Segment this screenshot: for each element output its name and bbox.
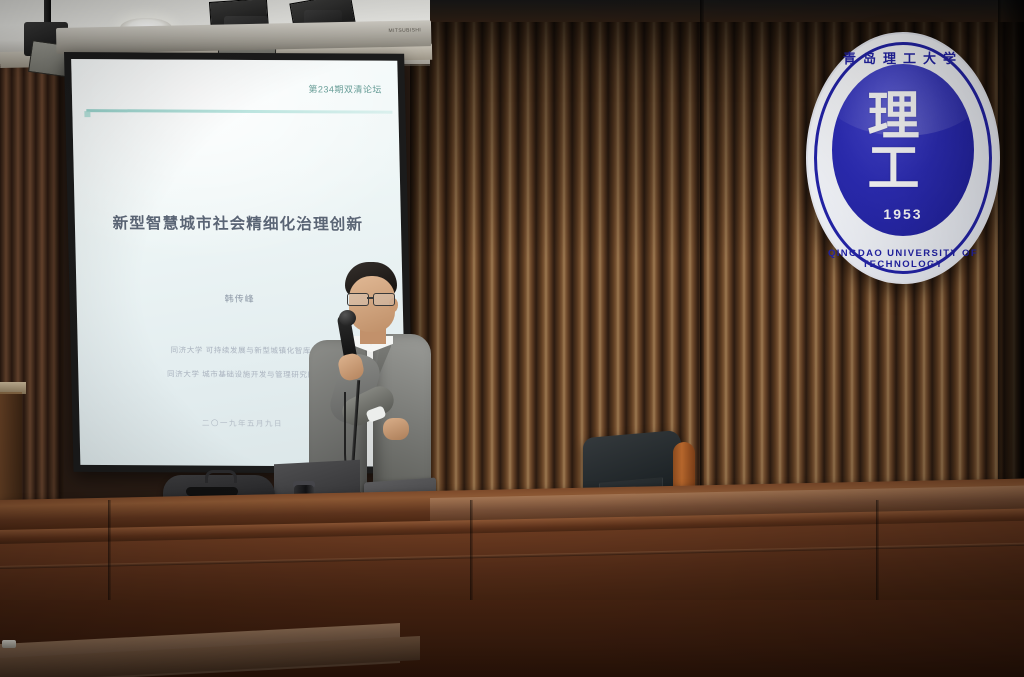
lecture-hall-photo: MITSUBISHI 第234期双清论坛 新型智慧城市社会精细化治理创新 韩传峰… <box>0 0 1024 677</box>
slide-title: 新型智慧城市社会精细化治理创新 <box>75 211 402 235</box>
slide-divider-rule <box>86 109 392 113</box>
emblem-center-glyph: 理工 <box>868 91 939 195</box>
wall-upper-strip <box>410 0 1024 22</box>
university-emblem: 青岛理工大学 理工 1953 QINGDAO UNIVERSITY OF TEC… <box>806 32 1000 284</box>
slide-divider-cap <box>84 111 90 117</box>
left-door[interactable] <box>0 392 22 514</box>
glasses-icon <box>347 293 397 304</box>
emblem-founded-year: 1953 <box>832 206 974 222</box>
backpack-handle <box>205 470 237 483</box>
emblem-english-name: QINGDAO UNIVERSITY OF TECHNOLOGY <box>808 248 998 270</box>
emblem-inner-disc: 理工 1953 <box>832 64 974 236</box>
microphone-head-icon <box>339 310 356 326</box>
slide-header-text: 第234期双清论坛 <box>308 82 382 95</box>
foreground-small-object[interactable] <box>2 640 16 648</box>
projector-brand-label: MITSUBISHI <box>388 27 421 34</box>
